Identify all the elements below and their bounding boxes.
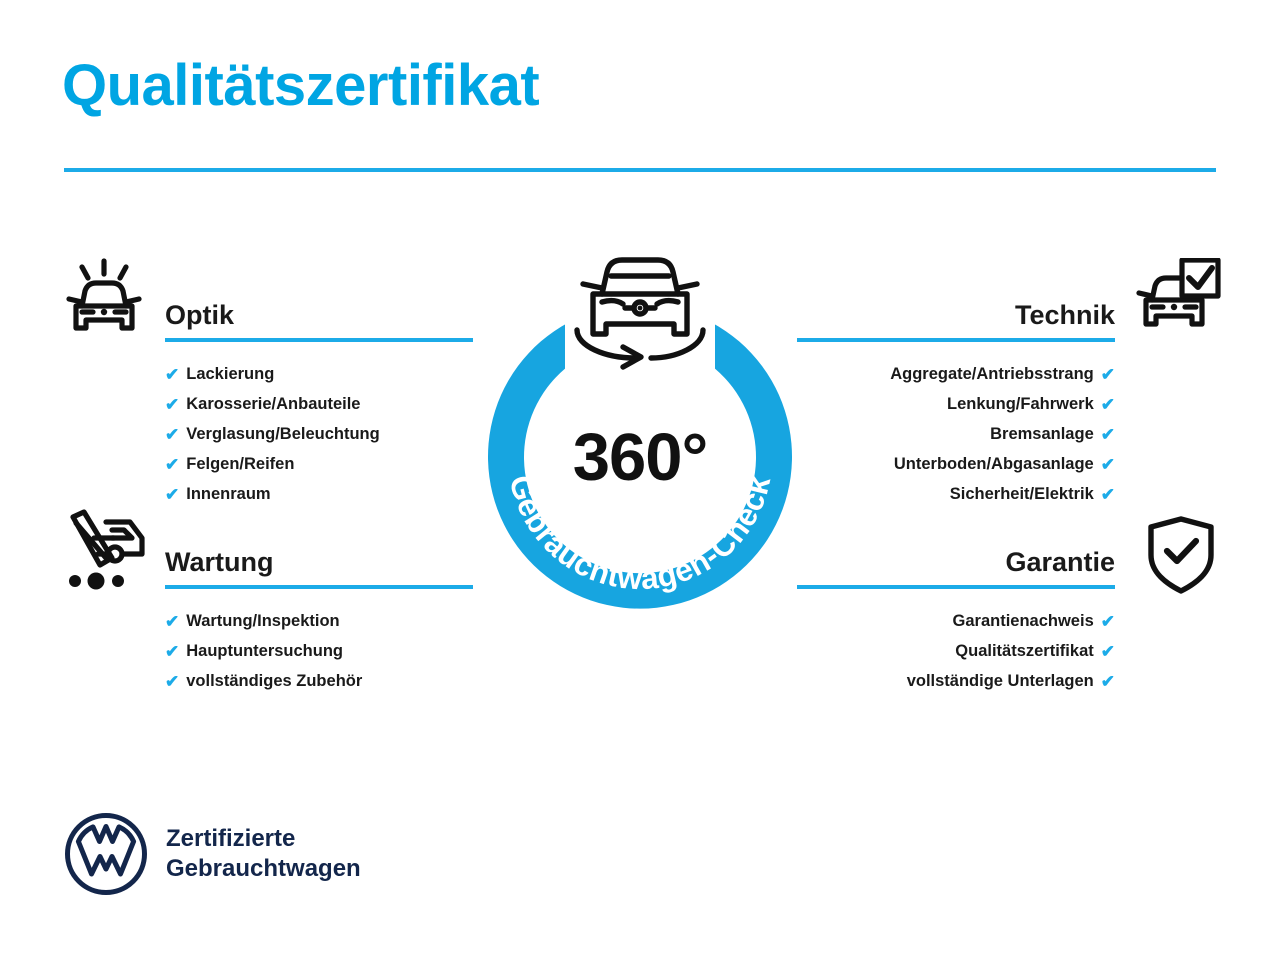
check-icon: ✔	[165, 426, 179, 443]
list-item-label: Hauptuntersuchung	[186, 636, 343, 666]
section-title: Garantie	[797, 545, 1115, 579]
check-icon: ✔	[1101, 673, 1115, 690]
section-wartung: Wartung ✔Wartung/Inspektion ✔Hauptunters…	[165, 545, 473, 696]
list-item: vollständige Unterlagen✔	[797, 666, 1115, 696]
car-shine-icon	[62, 258, 146, 349]
section-header: Optik	[165, 298, 473, 342]
list-item-label: vollständiges Zubehör	[186, 666, 362, 696]
check-icon: ✔	[1101, 643, 1115, 660]
list-item-label: Unterboden/Abgasanlage	[894, 449, 1094, 479]
section-divider	[797, 338, 1115, 342]
section-divider	[797, 585, 1115, 589]
check-icon: ✔	[165, 643, 179, 660]
list-item-label: Garantienachweis	[953, 606, 1094, 636]
checklist: ✔Wartung/Inspektion ✔Hauptuntersuchung ✔…	[165, 606, 473, 696]
list-item: Garantienachweis✔	[797, 606, 1115, 636]
list-item: Aggregate/Antriebsstrang✔	[797, 359, 1115, 389]
vw-certified-logo: Zertifizierte Gebrauchtwagen	[64, 812, 361, 896]
gebrauchtwagen-check-badge: Gebrauchtwagen-Check 360°	[468, 285, 812, 629]
list-item-label: Qualitätszertifikat	[955, 636, 1093, 666]
check-icon: ✔	[1101, 486, 1115, 503]
check-icon: ✔	[165, 456, 179, 473]
check-icon: ✔	[165, 673, 179, 690]
check-icon: ✔	[1101, 426, 1115, 443]
list-item-label: Felgen/Reifen	[186, 449, 294, 479]
footer-text: Zertifizierte Gebrauchtwagen	[166, 824, 361, 884]
section-header: Wartung	[165, 545, 473, 589]
list-item: ✔Innenraum	[165, 479, 473, 509]
car-checkbox-icon	[1135, 258, 1221, 347]
certificate-page: Qualitätszertifikat	[0, 0, 1280, 960]
check-icon: ✔	[165, 486, 179, 503]
header-divider	[64, 168, 1216, 172]
checklist: Garantienachweis✔ Qualitätszertifikat✔ v…	[797, 606, 1115, 696]
list-item-label: Karosserie/Anbauteile	[186, 389, 360, 419]
list-item-label: Sicherheit/Elektrik	[950, 479, 1094, 509]
list-item: Qualitätszertifikat✔	[797, 636, 1115, 666]
checklist: Aggregate/Antriebsstrang✔ Lenkung/Fahrwe…	[797, 359, 1115, 509]
shield-check-icon	[1145, 515, 1217, 600]
car-service-pen-icon	[62, 508, 152, 597]
check-icon: ✔	[165, 396, 179, 413]
check-icon: ✔	[1101, 366, 1115, 383]
list-item: ✔Karosserie/Anbauteile	[165, 389, 473, 419]
footer-line-1: Zertifizierte	[166, 824, 361, 854]
section-title: Wartung	[165, 545, 473, 579]
list-item: ✔Felgen/Reifen	[165, 449, 473, 479]
list-item-label: Verglasung/Beleuchtung	[186, 419, 379, 449]
check-icon: ✔	[165, 613, 179, 630]
section-divider	[165, 338, 473, 342]
page-title: Qualitätszertifikat	[62, 56, 539, 117]
car-rotate-icon	[565, 252, 715, 370]
check-icon: ✔	[165, 366, 179, 383]
section-header: Technik	[797, 298, 1115, 342]
list-item: Sicherheit/Elektrik✔	[797, 479, 1115, 509]
list-item: ✔Hauptuntersuchung	[165, 636, 473, 666]
section-title: Technik	[797, 298, 1115, 332]
list-item-label: vollständige Unterlagen	[907, 666, 1094, 696]
list-item: Bremsanlage✔	[797, 419, 1115, 449]
list-item-label: Lackierung	[186, 359, 274, 389]
list-item: ✔vollständiges Zubehör	[165, 666, 473, 696]
footer-line-2: Gebrauchtwagen	[166, 854, 361, 884]
list-item: ✔Verglasung/Beleuchtung	[165, 419, 473, 449]
section-technik: Technik Aggregate/Antriebsstrang✔ Lenkun…	[797, 298, 1115, 509]
section-header: Garantie	[797, 545, 1115, 589]
list-item: Unterboden/Abgasanlage✔	[797, 449, 1115, 479]
section-title: Optik	[165, 298, 473, 332]
checklist: ✔Lackierung ✔Karosserie/Anbauteile ✔Verg…	[165, 359, 473, 509]
list-item: Lenkung/Fahrwerk✔	[797, 389, 1115, 419]
list-item: ✔Lackierung	[165, 359, 473, 389]
list-item-label: Wartung/Inspektion	[186, 606, 339, 636]
list-item-label: Bremsanlage	[990, 419, 1094, 449]
section-optik: Optik ✔Lackierung ✔Karosserie/Anbauteile…	[165, 298, 473, 509]
list-item-label: Lenkung/Fahrwerk	[947, 389, 1094, 419]
check-icon: ✔	[1101, 456, 1115, 473]
list-item: ✔Wartung/Inspektion	[165, 606, 473, 636]
check-icon: ✔	[1101, 613, 1115, 630]
section-garantie: Garantie Garantienachweis✔ Qualitätszert…	[797, 545, 1115, 696]
list-item-label: Innenraum	[186, 479, 270, 509]
section-divider	[165, 585, 473, 589]
check-icon: ✔	[1101, 396, 1115, 413]
vw-logo-icon	[64, 812, 148, 896]
list-item-label: Aggregate/Antriebsstrang	[890, 359, 1094, 389]
